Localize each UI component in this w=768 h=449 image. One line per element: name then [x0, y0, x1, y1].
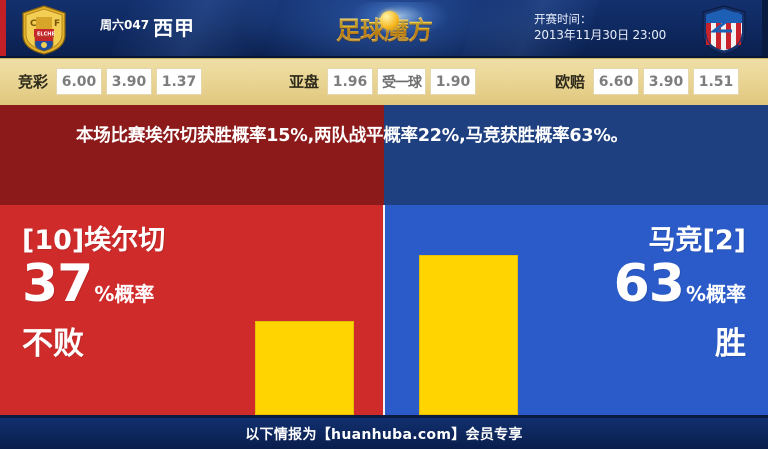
home-verdict-label: 不败: [22, 325, 165, 363]
footer-text: 以下情报为【huanhuba.com】会员专享: [0, 424, 768, 444]
svg-text:F: F: [54, 19, 60, 29]
away-team-name: 马竞[2]: [614, 225, 746, 257]
match-round-number: 周六047: [100, 18, 149, 32]
odds-group-yapan: 亚盘 1.96 受一球 1.90: [289, 68, 476, 95]
elche-cf-crest-icon: C F ELCHE: [20, 5, 68, 55]
home-probability-bar: [255, 321, 354, 415]
away-team-stats: 马竞[2] 63%概率 胜: [614, 225, 746, 363]
soccer-ball-icon: [380, 11, 399, 30]
probability-chart: [10]埃尔切 37%概率 不败 马竞[2] 63%概率 胜: [0, 205, 768, 415]
odds-bar: 竞彩 6.00 3.90 1.37 亚盘 1.96 受一球 1.90 欧赔 6.…: [0, 58, 768, 106]
headline-band: 本场比赛埃尔切获胜概率15%,两队战平概率22%,马竞获胜概率63%。: [0, 105, 768, 205]
match-probability-infographic: C F ELCHE 周六047西甲: [0, 0, 768, 449]
odds-group-label: 竞彩: [18, 71, 48, 92]
odds-cell-home[interactable]: 6.60: [593, 68, 639, 95]
brand-logo[interactable]: 足球魔方: [318, 2, 450, 56]
odds-cell-home[interactable]: 6.00: [56, 68, 102, 95]
home-probability-row: 37%概率: [22, 257, 165, 323]
odds-cell-away[interactable]: 1.90: [430, 68, 476, 95]
home-team-name: [10]埃尔切: [22, 225, 165, 257]
away-probability-value: 63: [614, 254, 684, 314]
away-probability-row: 63%概率: [614, 257, 746, 323]
match-league-name: 西甲: [153, 16, 195, 40]
footer-bar: 以下情报为【huanhuba.com】会员专享: [0, 415, 768, 449]
odds-group-jingcai: 竞彩 6.00 3.90 1.37: [18, 68, 202, 95]
odds-cell-draw[interactable]: 3.90: [643, 68, 689, 95]
odds-cell-handicap[interactable]: 受一球: [377, 68, 426, 95]
header-right-accent-strip: [762, 0, 768, 58]
kickoff-time-block: 开赛时间： 2013年11月30日 23:00: [534, 11, 666, 43]
home-probability-value: 37: [22, 254, 92, 314]
away-probability-bar: [419, 255, 518, 415]
odds-cell-draw[interactable]: 3.90: [106, 68, 152, 95]
footer-divider: [0, 415, 768, 418]
kickoff-time-value: 2013年11月30日 23:00: [534, 27, 666, 43]
odds-group-label: 欧赔: [555, 71, 585, 92]
odds-cell-away[interactable]: 1.51: [693, 68, 739, 95]
header-left-accent-strip: [0, 0, 6, 58]
svg-text:C: C: [30, 19, 37, 29]
away-verdict-label: 胜: [614, 325, 746, 363]
match-title: 周六047西甲: [100, 12, 195, 41]
svg-text:ELCHE: ELCHE: [37, 32, 55, 38]
odds-cell-home[interactable]: 1.96: [327, 68, 373, 95]
away-probability-unit: %概率: [686, 282, 746, 306]
atletico-madrid-crest-icon: [700, 5, 748, 55]
headline-text: 本场比赛埃尔切获胜概率15%,两队战平概率22%,马竞获胜概率63%。: [76, 121, 716, 151]
headline-band-right-half: [384, 105, 768, 205]
home-probability-unit: %概率: [94, 282, 154, 306]
odds-group-oupei: 欧赔 6.60 3.90 1.51: [555, 68, 739, 95]
headline-band-left-half: [0, 105, 384, 205]
kickoff-time-label: 开赛时间：: [534, 11, 666, 27]
home-team-stats: [10]埃尔切 37%概率 不败: [22, 225, 165, 363]
odds-cell-away[interactable]: 1.37: [156, 68, 202, 95]
odds-group-label: 亚盘: [289, 71, 319, 92]
header-bar: C F ELCHE 周六047西甲: [0, 0, 768, 58]
panel-divider: [383, 205, 385, 415]
